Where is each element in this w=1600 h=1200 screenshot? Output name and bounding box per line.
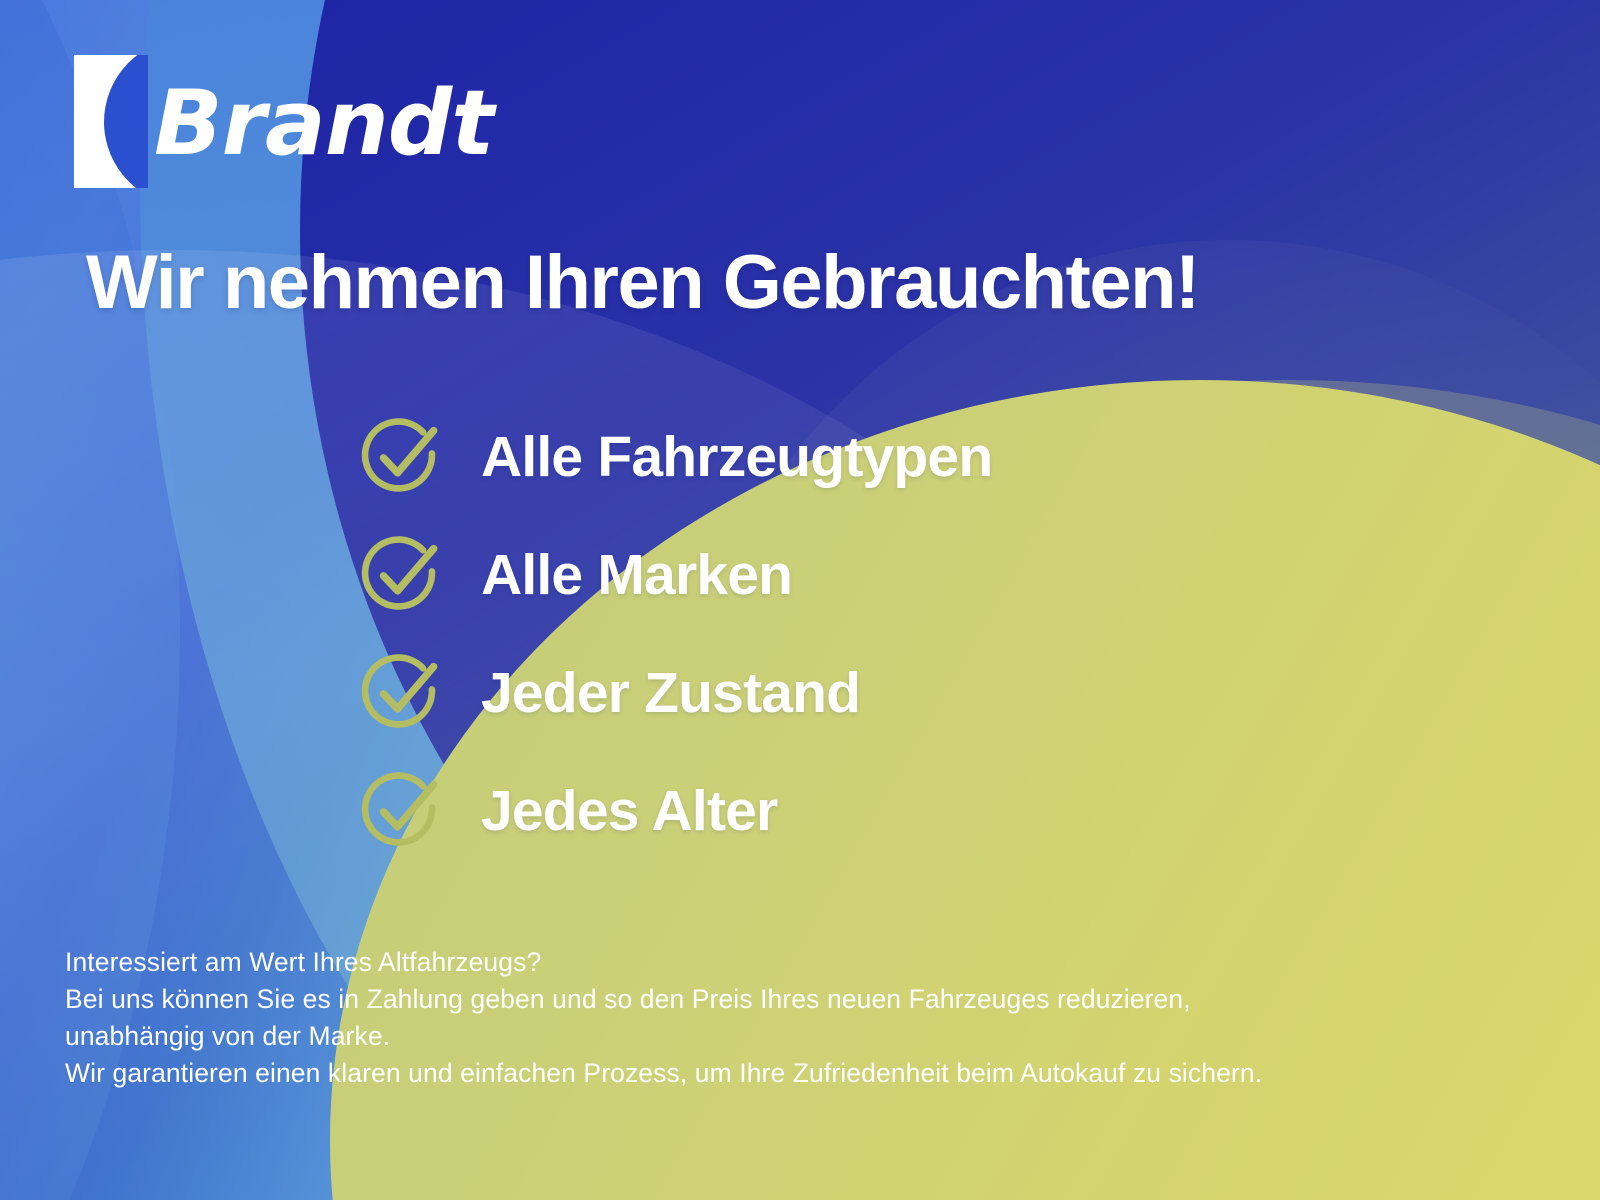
footnote-line-1: Interessiert am Wert Ihres Altfahrzeugs? xyxy=(65,944,1262,981)
footnote-line-3: unabhängig von der Marke. xyxy=(65,1018,1262,1055)
list-item: Jeder Zustand xyxy=(358,634,992,752)
page-title: Wir nehmen Ihren Gebrauchten! xyxy=(86,243,1199,323)
list-item-label: Alle Marken xyxy=(481,547,792,604)
promo-poster: Brandt Wir nehmen Ihren Gebrauchten! All… xyxy=(0,0,1600,1200)
footnote-line-4: Wir garantieren einen klaren und einfach… xyxy=(65,1055,1262,1092)
footnote-line-2: Bei uns können Sie es in Zahlung geben u… xyxy=(65,981,1262,1018)
check-circle-icon xyxy=(358,767,446,855)
check-circle-icon xyxy=(358,413,446,501)
list-item: Alle Marken xyxy=(358,516,992,634)
list-item-label: Alle Fahrzeugtypen xyxy=(481,429,992,486)
list-item-label: Jedes Alter xyxy=(481,783,777,840)
benefits-list: Alle Fahrzeugtypen Alle Marken Jeder Zus… xyxy=(358,398,992,870)
brand-logo-mark-icon xyxy=(74,55,148,188)
list-item-label: Jeder Zustand xyxy=(481,665,860,722)
check-circle-icon xyxy=(358,531,446,619)
check-circle-icon xyxy=(358,649,446,737)
list-item: Jedes Alter xyxy=(358,752,992,870)
brand-logo: Brandt xyxy=(74,55,493,188)
list-item: Alle Fahrzeugtypen xyxy=(358,398,992,516)
brand-name: Brandt xyxy=(154,79,493,169)
footnote-paragraph: Interessiert am Wert Ihres Altfahrzeugs?… xyxy=(65,944,1262,1092)
